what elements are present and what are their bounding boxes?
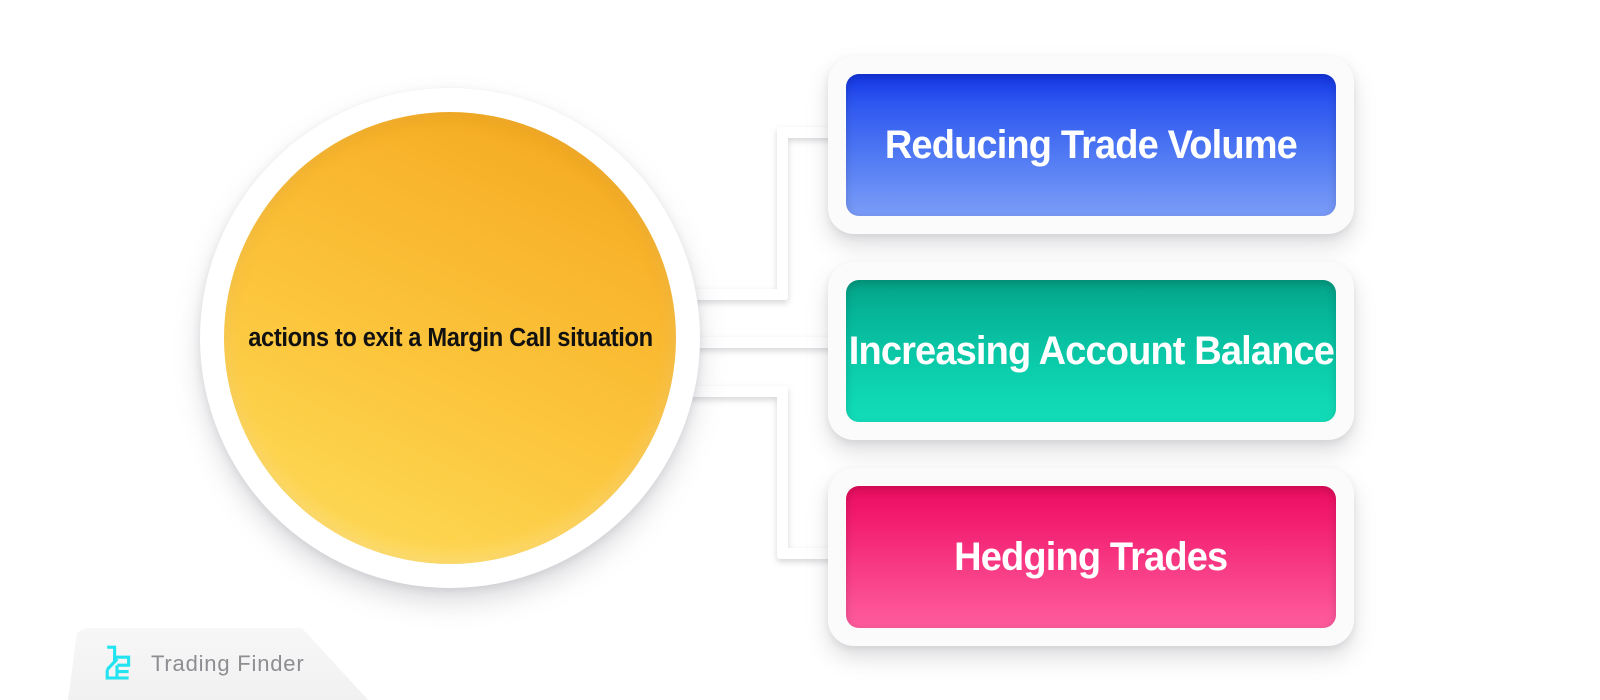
hub-circle[interactable]: actions to exit a Margin Call situation xyxy=(200,88,700,588)
branch-node-label: Hedging Trades xyxy=(954,535,1227,580)
connector-trunk-lower xyxy=(777,386,788,559)
hub-circle-fill: actions to exit a Margin Call situation xyxy=(224,112,676,564)
branch-node-fill: Reducing Trade Volume xyxy=(846,74,1336,216)
branch-node-label: Reducing Trade Volume xyxy=(885,123,1297,168)
brand-name: Trading Finder xyxy=(151,651,304,677)
hub-label: actions to exit a Margin Call situation xyxy=(248,324,653,353)
branch-node-fill: Hedging Trades xyxy=(846,486,1336,628)
trading-finder-logo-icon xyxy=(104,645,138,683)
branch-node-label: Increasing Account Balance xyxy=(848,329,1333,374)
branch-node-increasing-account-balance[interactable]: Increasing Account Balance xyxy=(828,262,1354,440)
connector-trunk-upper xyxy=(777,127,788,300)
diagram-canvas: actions to exit a Margin Call situation … xyxy=(0,0,1600,700)
brand-banner: Trading Finder xyxy=(68,628,368,700)
branch-node-fill: Increasing Account Balance xyxy=(846,280,1336,422)
branch-node-reducing-trade-volume[interactable]: Reducing Trade Volume xyxy=(828,56,1354,234)
branch-node-hedging-trades[interactable]: Hedging Trades xyxy=(828,468,1354,646)
